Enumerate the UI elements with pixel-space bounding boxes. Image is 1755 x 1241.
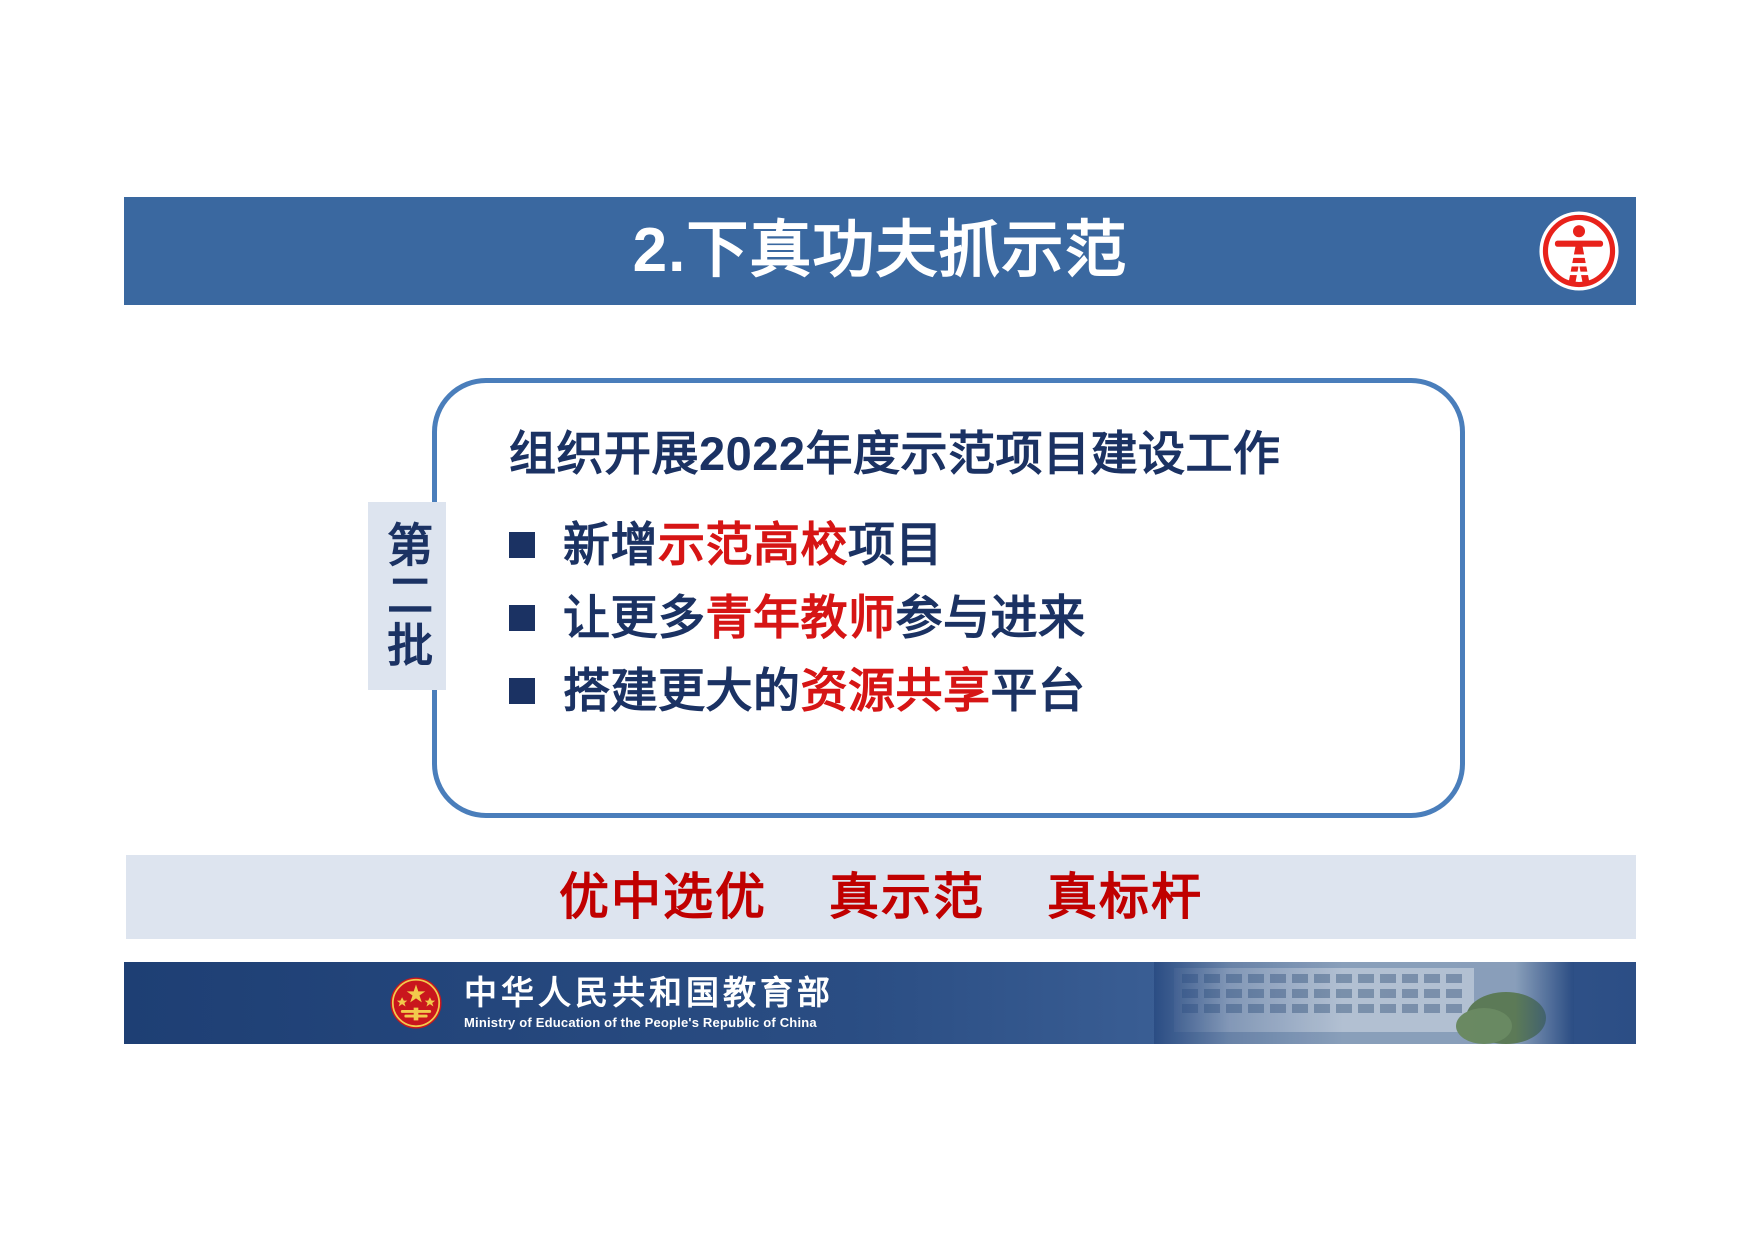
- slogan-band: 优中选优 真示范 真标杆: [126, 855, 1636, 939]
- content-panel: 组织开展2022年度示范项目建设工作 新增示范高校项目 让更多青年教师参与进来 …: [432, 378, 1465, 818]
- panel-heading: 组织开展2022年度示范项目建设工作: [509, 415, 1281, 484]
- national-emblem-icon: [387, 974, 445, 1032]
- slide-title: 2.下真功夫抓示范: [633, 220, 1128, 282]
- slogan-item: 优中选优: [559, 872, 767, 922]
- batch-label-text: 第二批: [383, 521, 431, 671]
- bullet-text-post: 项目: [848, 518, 943, 571]
- list-item: 让更多青年教师参与进来: [509, 581, 1409, 654]
- bullet-text-highlight: 示范高校: [658, 518, 848, 571]
- footer-name-cn: 中华人民共和国教育部: [464, 976, 834, 1012]
- square-bullet-icon: [509, 605, 535, 631]
- bullet-text-highlight: 资源共享: [801, 664, 991, 717]
- slogan-item: 真示范: [829, 872, 985, 922]
- building-photo-icon: [1154, 962, 1574, 1044]
- bullet-text-pre: 新增: [563, 518, 658, 571]
- bullet-text-highlight: 青年教师: [706, 591, 896, 644]
- bullet-text-post: 参与进来: [896, 591, 1086, 644]
- bullet-list: 新增示范高校项目 让更多青年教师参与进来 搭建更大的资源共享平台: [509, 508, 1409, 727]
- footer-bar: 中华人民共和国教育部 Ministry of Education of the …: [124, 962, 1636, 1044]
- square-bullet-icon: [509, 532, 535, 558]
- slide-canvas: 2.下真功夫抓示范 组织开展2022年度示范项目建设工作 新增示范高校项目: [0, 0, 1755, 1241]
- bullet-text-pre: 让更多: [563, 591, 706, 644]
- square-bullet-icon: [509, 678, 535, 704]
- footer-name-en: Ministry of Education of the People's Re…: [464, 1015, 834, 1030]
- vocational-education-emblem-icon: [1536, 208, 1622, 294]
- footer-ministry-name: 中华人民共和国教育部 Ministry of Education of the …: [464, 976, 834, 1030]
- slogan-group: 优中选优 真示范 真标杆: [559, 872, 1203, 922]
- slogan-item: 真标杆: [1047, 872, 1203, 922]
- bullet-text-post: 平台: [991, 664, 1086, 717]
- list-item: 搭建更大的资源共享平台: [509, 654, 1409, 727]
- bullet-text: 搭建更大的资源共享平台: [563, 667, 1086, 714]
- bullet-text: 新增示范高校项目: [563, 521, 943, 568]
- bullet-text-pre: 搭建更大的: [563, 664, 801, 717]
- batch-label-tab: 第二批: [368, 502, 446, 690]
- bullet-text: 让更多青年教师参与进来: [563, 594, 1086, 641]
- slide-title-bar: 2.下真功夫抓示范: [124, 197, 1636, 305]
- list-item: 新增示范高校项目: [509, 508, 1409, 581]
